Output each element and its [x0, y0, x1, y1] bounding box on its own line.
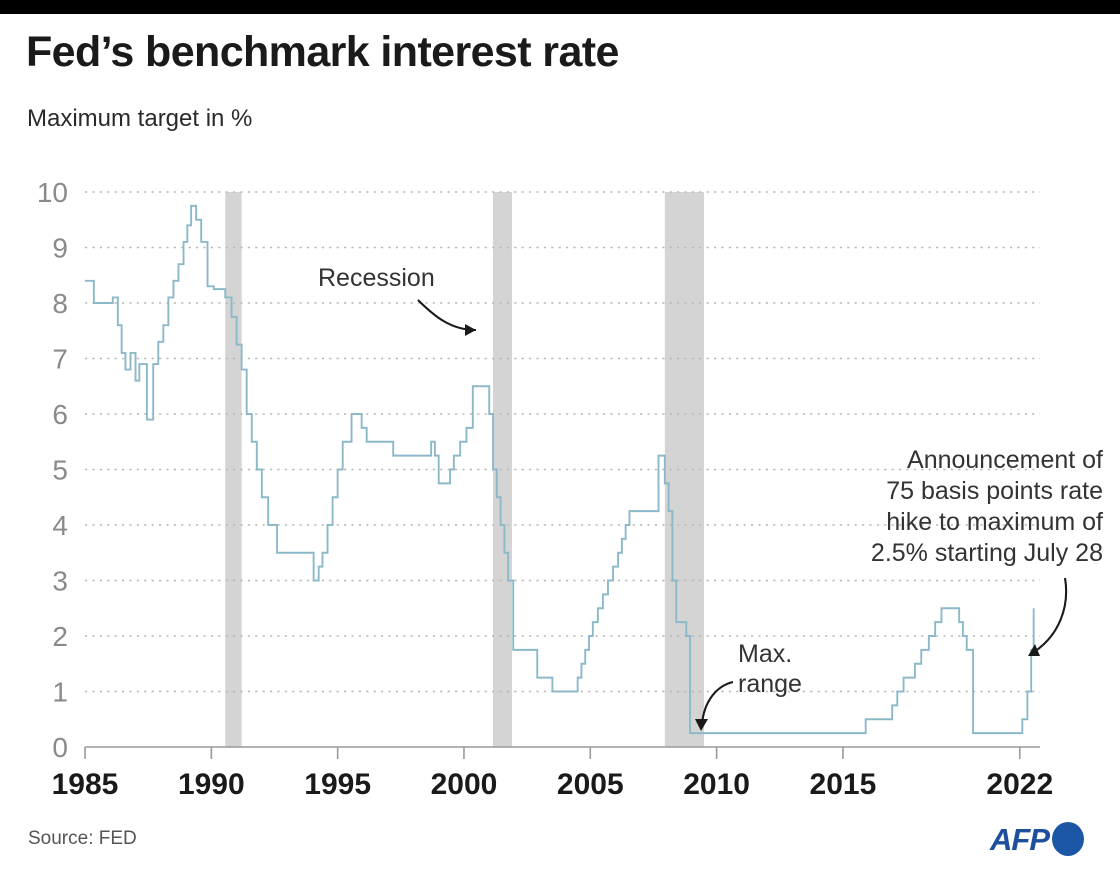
y-tick-label-1: 1 [52, 677, 68, 708]
y-tick-label-8: 8 [52, 288, 68, 319]
afp-circle-icon [1052, 822, 1084, 856]
x-axis-tick-labels: 19851990199520002005201020152022 [52, 768, 1054, 801]
x-tick-label-2005: 2005 [557, 768, 624, 801]
y-tick-label-4: 4 [52, 510, 68, 541]
interest-rate-line-chart: 012345678910 198519901995200020052010201… [0, 0, 1120, 879]
chart-area: 012345678910 198519901995200020052010201… [0, 0, 1120, 879]
y-tick-label-6: 6 [52, 399, 68, 430]
source-label: Source: FED [28, 828, 137, 850]
y-tick-label-10: 10 [37, 177, 68, 208]
rate-hike-annotation-line-1: Announcement of [907, 446, 1103, 474]
afp-logo: AFP [990, 820, 1090, 860]
x-tick-label-1985: 1985 [52, 768, 119, 801]
max-range-arrow-curve [702, 682, 733, 724]
max-range-annotation-line-1: Max. [738, 640, 792, 668]
rate-hike-annotation-line-2: 75 basis points rate [886, 477, 1103, 505]
recession-arrow-head [465, 324, 476, 336]
x-tick-label-1990: 1990 [178, 768, 245, 801]
max-range-annotation-line-2: range [738, 670, 802, 698]
x-tick-label-2010: 2010 [683, 768, 750, 801]
y-axis-tick-labels: 012345678910 [37, 177, 68, 763]
x-tick-label-1995: 1995 [304, 768, 371, 801]
rate-hike-arrow-curve [1034, 578, 1066, 652]
rate-hike-annotation-line-3: hike to maximum of [886, 508, 1103, 536]
rate-hike-annotation-line-4: 2.5% starting July 28 [871, 539, 1103, 567]
afp-logo-text: AFP [990, 822, 1049, 858]
recession-annotation: Recession [318, 264, 476, 336]
y-tick-label-7: 7 [52, 344, 68, 375]
x-tick-label-2000: 2000 [431, 768, 498, 801]
x-tick-label-2022: 2022 [986, 768, 1053, 801]
y-tick-label-3: 3 [52, 566, 68, 597]
y-tick-label-5: 5 [52, 455, 68, 486]
max-range-annotation: Max. range [695, 640, 802, 731]
y-tick-label-9: 9 [52, 233, 68, 264]
x-axis-ticks-group [85, 747, 1020, 759]
x-tick-label-2015: 2015 [810, 768, 877, 801]
rate-hike-annotation: Announcement of 75 basis points rate hik… [871, 446, 1103, 656]
y-tick-label-0: 0 [52, 732, 68, 763]
recession-annotation-label: Recession [318, 264, 435, 292]
y-tick-label-2: 2 [52, 621, 68, 652]
